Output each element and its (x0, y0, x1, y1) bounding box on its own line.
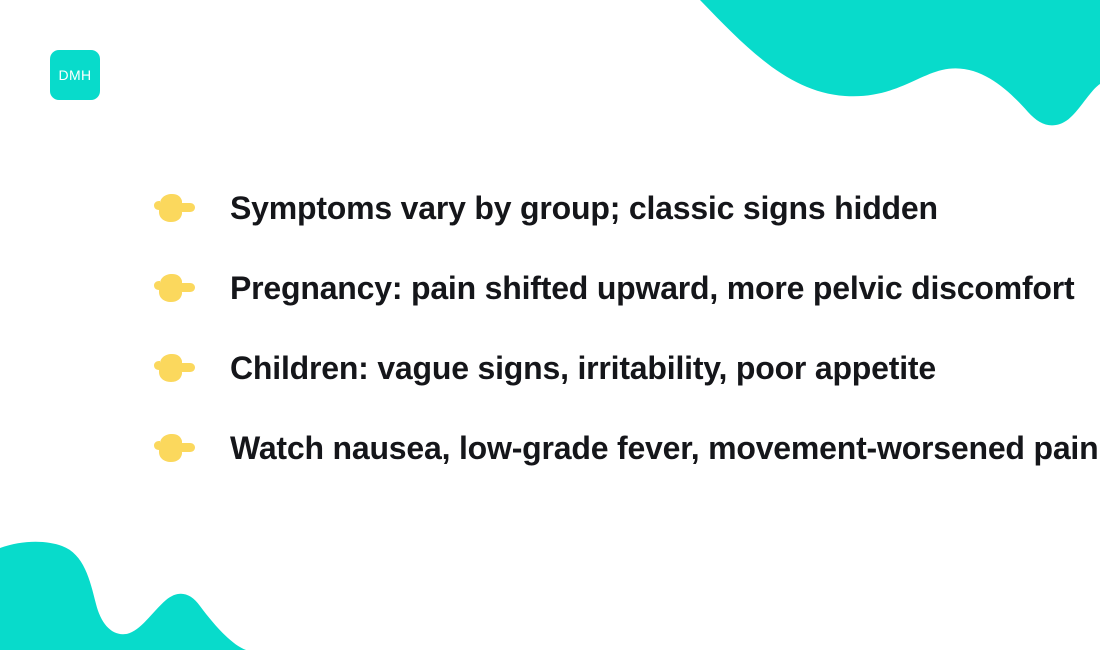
pointing-right-hand-icon (150, 191, 230, 225)
list-item: Watch nausea, low-grade fever, movement-… (150, 408, 1100, 488)
bullet-text: Pregnancy: pain shifted upward, more pel… (230, 272, 1074, 304)
bullet-text: Watch nausea, low-grade fever, movement-… (230, 432, 1098, 464)
brand-logo: DMH (50, 50, 100, 100)
bullet-text: Symptoms vary by group; classic signs hi… (230, 192, 938, 224)
wave-top-right-decoration (680, 0, 1100, 130)
list-item: Symptoms vary by group; classic signs hi… (150, 168, 1100, 248)
bullet-list: Symptoms vary by group; classic signs hi… (150, 168, 1100, 488)
brand-logo-label: DMH (58, 67, 91, 83)
pointing-right-hand-icon (150, 271, 230, 305)
list-item: Children: vague signs, irritability, poo… (150, 328, 1100, 408)
slide-canvas: DMH Symptoms vary by group; classic sign… (0, 0, 1100, 650)
pointing-right-hand-icon (150, 431, 230, 465)
wave-bottom-left-decoration (0, 520, 330, 650)
bullet-text: Children: vague signs, irritability, poo… (230, 352, 936, 384)
pointing-right-hand-icon (150, 351, 230, 385)
list-item: Pregnancy: pain shifted upward, more pel… (150, 248, 1100, 328)
